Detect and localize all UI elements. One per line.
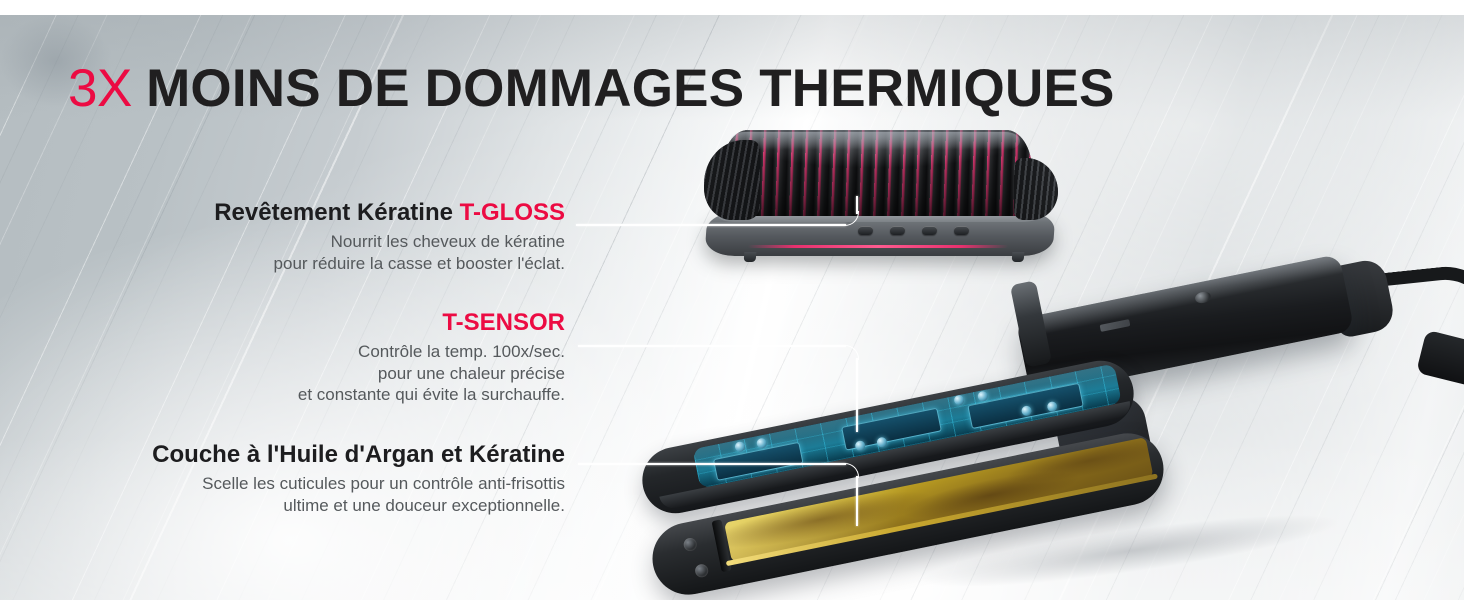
feature-title-accent: T-GLOSS	[460, 199, 565, 226]
feature-title-t-sensor: T-SENSOR	[185, 308, 565, 338]
feature-title-text: Revêtement Kératine	[214, 199, 459, 226]
feature-block-argan-keratin: Couche à l'Huile d'Argan et Kératine Sce…	[65, 440, 565, 516]
headline-accent: 3X	[68, 59, 132, 118]
headline-main: MOINS DE DOMMAGES THERMIQUES	[146, 59, 1114, 118]
feature-body-line: pour une chaleur précise	[185, 363, 565, 385]
leader-line-tgloss-vertical	[856, 196, 858, 214]
top-white-strip	[0, 0, 1464, 15]
leader-line-argan-vertical	[856, 476, 858, 526]
feature-title-t-gloss: Revêtement Kératine T-GLOSS	[85, 198, 565, 228]
feature-body-line: et constante qui évite la surchauffe.	[185, 384, 565, 406]
promo-banner: 3X MOINS DE DOMMAGES THERMIQUES Revêteme…	[0, 0, 1464, 600]
leader-line-tgloss-horizontal	[576, 224, 846, 226]
feature-body-line: ultime et une douceur exceptionnelle.	[65, 495, 565, 517]
feature-body-t-sensor: Contrôle la temp. 100x/sec. pour une cha…	[185, 341, 565, 406]
leader-line-argan-horizontal	[578, 463, 846, 465]
feature-body-line: Contrôle la temp. 100x/sec.	[185, 341, 565, 363]
feature-body-line: Scelle les cuticules pour un contrôle an…	[65, 473, 565, 495]
page-title: 3X MOINS DE DOMMAGES THERMIQUES	[68, 60, 1115, 118]
feature-body-line: Nourrit les cheveux de kératine	[85, 231, 565, 253]
feature-title-argan-keratin: Couche à l'Huile d'Argan et Kératine	[65, 440, 565, 470]
feature-block-t-sensor: T-SENSOR Contrôle la temp. 100x/sec. pou…	[185, 308, 565, 406]
leader-line-tsensor-horizontal	[578, 345, 846, 347]
feature-body-line: pour réduire la casse et booster l'éclat…	[85, 253, 565, 275]
leader-line-tsensor-vertical	[856, 358, 858, 432]
feature-block-t-gloss: Revêtement Kératine T-GLOSS Nourrit les …	[85, 198, 565, 274]
feature-body-argan-keratin: Scelle les cuticules pour un contrôle an…	[65, 473, 565, 516]
feature-body-t-gloss: Nourrit les cheveux de kératine pour réd…	[85, 231, 565, 274]
